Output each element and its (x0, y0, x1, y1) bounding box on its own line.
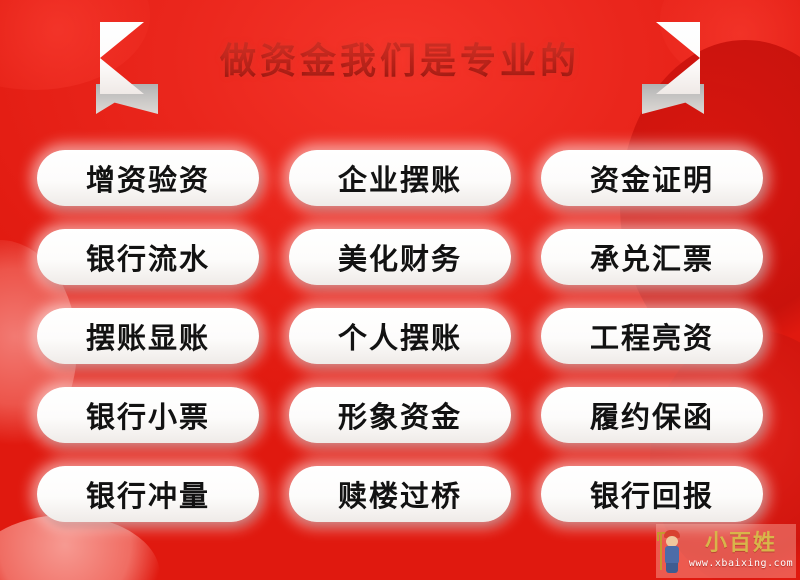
service-pill-yinhangxiaopiao[interactable]: 银行小票 (37, 387, 259, 443)
service-pill-shuilouguoqiao[interactable]: 赎楼过桥 (289, 466, 511, 522)
service-pill-chengduihuipiao[interactable]: 承兑汇票 (541, 229, 763, 285)
service-pill-label: 形象资金 (338, 394, 462, 436)
service-pill-label: 承兑汇票 (590, 236, 714, 278)
service-pill-label: 银行冲量 (86, 473, 210, 515)
service-pill-yinhanghuibao[interactable]: 银行回报 (541, 466, 763, 522)
service-pill-yinhangchongliang[interactable]: 银行冲量 (37, 466, 259, 522)
service-pill-label: 资金证明 (590, 157, 714, 199)
service-pill-meihuacaiwu[interactable]: 美化财务 (289, 229, 511, 285)
service-pill-label: 银行流水 (86, 236, 210, 278)
service-pill-gongchengliangzi[interactable]: 工程亮资 (541, 308, 763, 364)
service-pill-label: 银行回报 (590, 473, 714, 515)
service-pill-label: 赎楼过桥 (338, 473, 462, 515)
watermark-brand: 小百姓 (705, 533, 777, 555)
service-pill-label: 个人摆账 (338, 315, 462, 357)
service-pill-gerenbaizhang[interactable]: 个人摆账 (289, 308, 511, 364)
banner-text-container: 做资金我们是专业的 (100, 22, 700, 94)
promo-poster: 做资金我们是专业的 增资验资 企业摆账 资金证明 银行流水 美化财务 承兑汇票 … (0, 0, 800, 580)
banner: 做资金我们是专业的 (0, 22, 800, 112)
service-pill-label: 履约保函 (590, 394, 714, 436)
service-pill-label: 工程亮资 (590, 315, 714, 357)
service-pill-label: 美化财务 (338, 236, 462, 278)
service-pill-xingxiangzijin[interactable]: 形象资金 (289, 387, 511, 443)
service-pill-zijinzhengming[interactable]: 资金证明 (541, 150, 763, 206)
service-pill-label: 增资验资 (86, 157, 210, 199)
service-pill-label: 银行小票 (86, 394, 210, 436)
service-pill-lvyuebaohan[interactable]: 履约保函 (541, 387, 763, 443)
service-pill-zengziyanzi[interactable]: 增资验资 (37, 150, 259, 206)
watermark-url: www.xbaixing.com (689, 558, 793, 569)
background-circle-left-bottom (0, 515, 160, 580)
watermark-text: 小百姓 www.xbaixing.com (686, 533, 796, 569)
service-pill-label: 摆账显账 (86, 315, 210, 357)
service-pill-baizhangxianzhang[interactable]: 摆账显账 (37, 308, 259, 364)
service-pill-yinhangliushui[interactable]: 银行流水 (37, 229, 259, 285)
service-pill-qiyebaizhang[interactable]: 企业摆账 (289, 150, 511, 206)
watermark-logo: 小百姓 www.xbaixing.com (656, 524, 796, 578)
service-pill-label: 企业摆账 (338, 157, 462, 199)
service-grid: 增资验资 企业摆账 资金证明 银行流水 美化财务 承兑汇票 摆账显账 个人摆账 … (0, 150, 800, 522)
page-title: 做资金我们是专业的 (220, 32, 580, 84)
farmer-mascot-icon (660, 528, 686, 574)
